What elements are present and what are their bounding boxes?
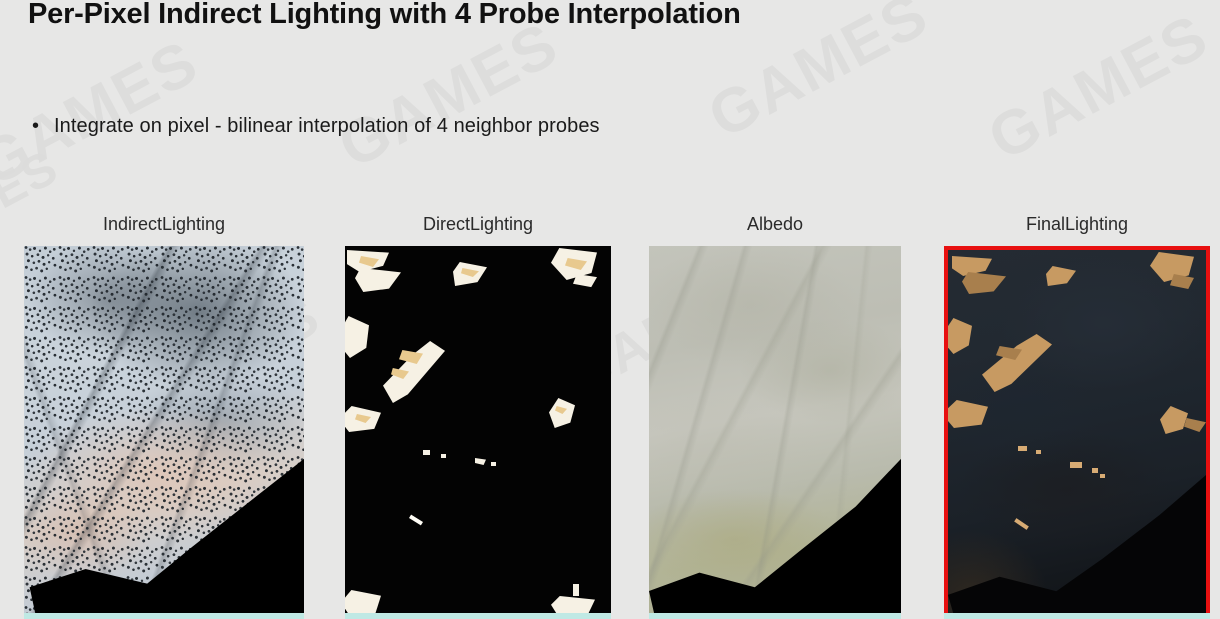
indirectlighting-render bbox=[24, 246, 304, 613]
final-highlight-speck bbox=[1018, 446, 1027, 451]
image-panel-indirectlighting[interactable] bbox=[24, 246, 304, 613]
panel-label-albedo: Albedo bbox=[649, 213, 901, 235]
direct-highlight-speck bbox=[573, 584, 579, 596]
direct-highlight-speck bbox=[423, 450, 430, 455]
albedo-render bbox=[649, 246, 901, 613]
panel-label-directlighting: DirectLighting bbox=[345, 213, 611, 235]
final-highlight-speck bbox=[1100, 474, 1105, 478]
final-highlight-speck bbox=[1036, 450, 1041, 454]
final-highlight-speck bbox=[1070, 462, 1082, 468]
directlighting-render bbox=[345, 246, 611, 613]
image-panel-albedo[interactable] bbox=[649, 246, 901, 613]
watermark-text: GAMES bbox=[977, 0, 1220, 174]
slide-title: Per-Pixel Indirect Lighting with 4 Probe… bbox=[28, 0, 741, 32]
final-highlight-speck bbox=[1092, 468, 1098, 473]
panel-label-indirectlighting: IndirectLighting bbox=[24, 213, 304, 235]
bullet-marker-icon: • bbox=[32, 112, 54, 140]
slide-canvas: GAMES GAMES GAMES GAMES GAMES GAMES GAME… bbox=[0, 0, 1220, 619]
image-panel-finallighting[interactable] bbox=[944, 246, 1210, 617]
finallighting-render bbox=[948, 250, 1206, 613]
watermark-text: GAMES bbox=[327, 8, 570, 182]
direct-highlight-speck bbox=[441, 454, 446, 458]
bottom-accent-strip bbox=[0, 613, 1220, 619]
direct-highlight-speck bbox=[491, 462, 496, 466]
direct-base-layer bbox=[345, 246, 611, 613]
bullet-item: • Integrate on pixel - bilinear interpol… bbox=[32, 112, 600, 140]
panel-label-finallighting: FinalLighting bbox=[944, 213, 1210, 235]
bullet-text: Integrate on pixel - bilinear interpolat… bbox=[54, 112, 600, 140]
image-panel-directlighting[interactable] bbox=[345, 246, 611, 613]
